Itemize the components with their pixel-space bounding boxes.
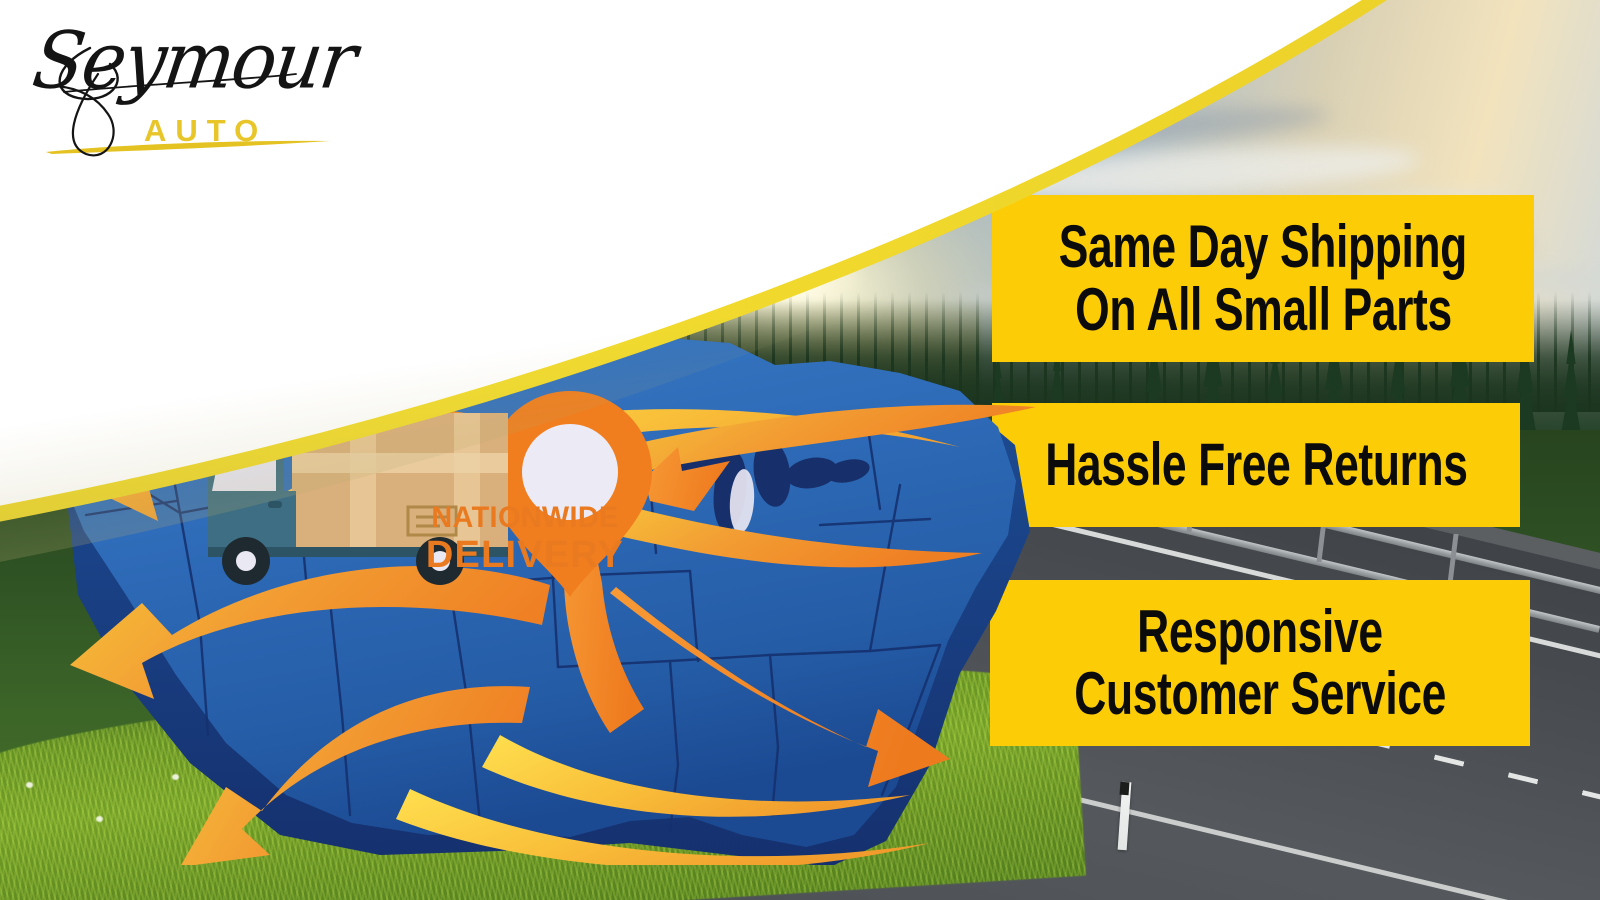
callout-line: Customer Service: [1074, 663, 1446, 725]
brand-logo[interactable]: Seymour AUTO: [34, 18, 334, 168]
callout-hassle-free-returns[interactable]: Hassle Free Returns: [992, 403, 1520, 527]
truck-door-handle: [268, 501, 282, 508]
truck-wheel-front-hub: [236, 551, 256, 571]
callout-line: Same Day Shipping: [1059, 216, 1467, 278]
logo-underline-swoosh: [42, 139, 332, 155]
roadside-marker-band: [1120, 782, 1130, 796]
callout-line: Hassle Free Returns: [1045, 434, 1467, 496]
delivery-label: DELIVERY: [420, 536, 630, 574]
callout-line: Responsive: [1137, 601, 1383, 663]
nationwide-label: NATIONWIDE: [424, 503, 626, 533]
nationwide-delivery-caption: NATIONWIDE DELIVERY: [420, 503, 630, 574]
promotional-banner: Same Day Shipping On All Small Parts Has…: [0, 0, 1600, 900]
logo-script-name: Seymour: [28, 15, 361, 106]
box-tape-horizontal: [292, 453, 508, 473]
callout-same-day-shipping[interactable]: Same Day Shipping On All Small Parts: [992, 195, 1534, 362]
callout-line: On All Small Parts: [1075, 279, 1452, 341]
callout-responsive-customer-service[interactable]: Responsive Customer Service: [990, 580, 1530, 746]
